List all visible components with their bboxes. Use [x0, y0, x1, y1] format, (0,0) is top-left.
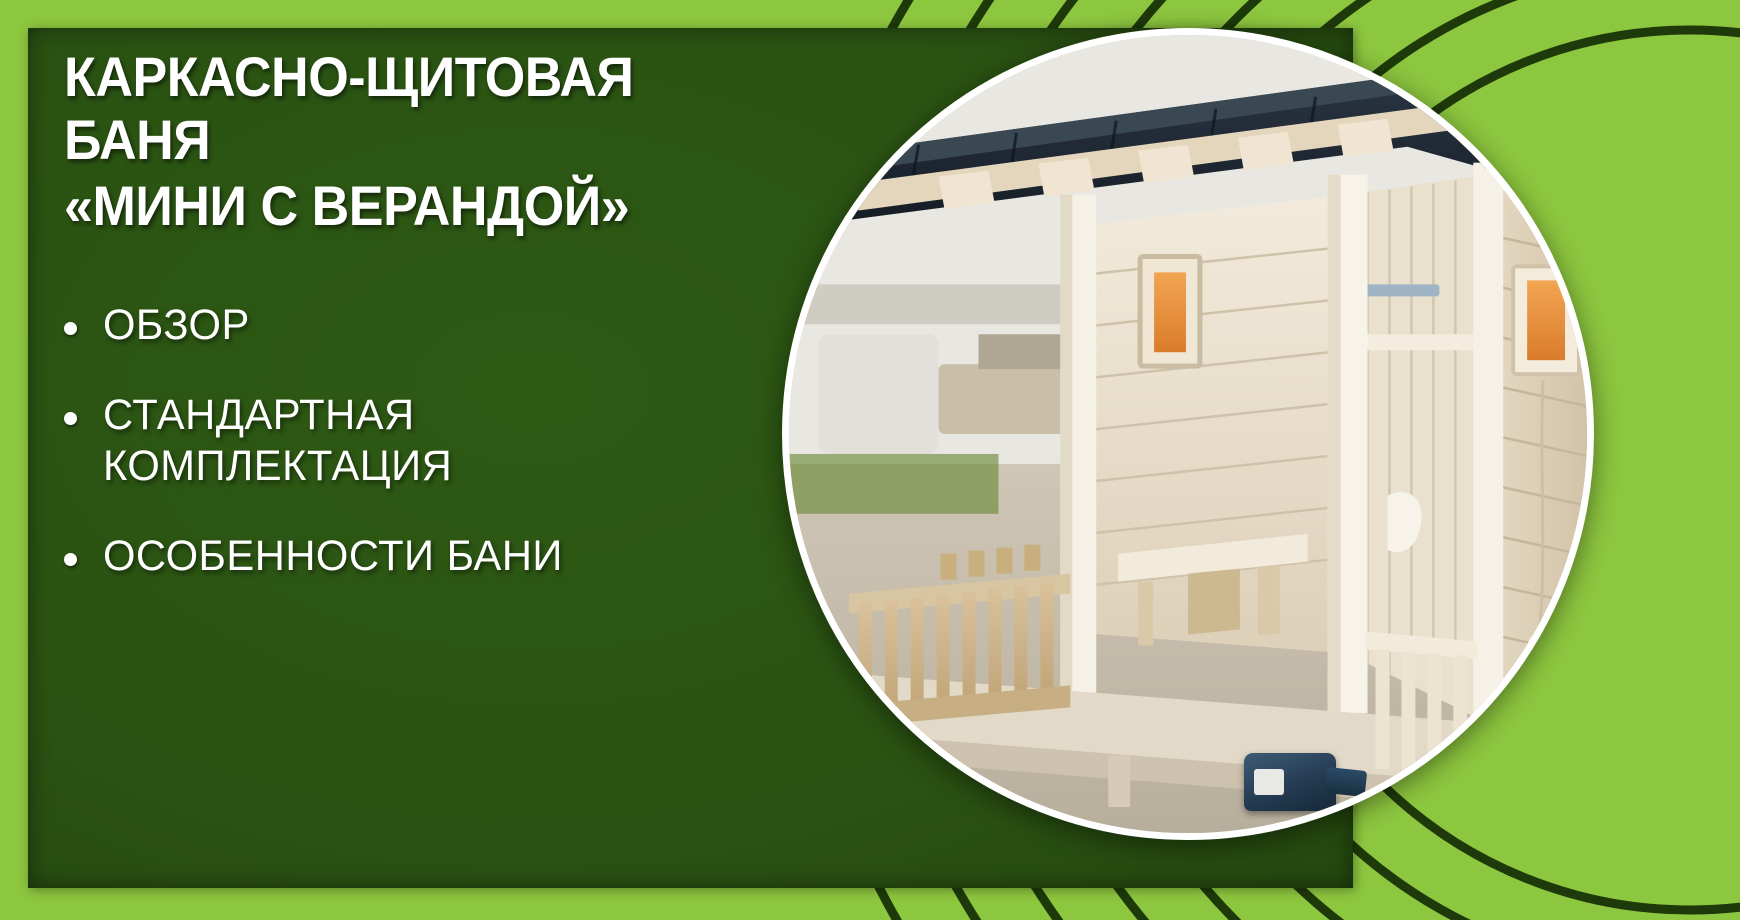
title-line-2: БАНЯ [64, 109, 771, 172]
sauna-scene [789, 35, 1587, 833]
bullet-line-1: ОБЗОР [103, 301, 250, 349]
bullet-line-1: СТАНДАРТНАЯ [103, 391, 415, 439]
promo-slide: КАРКАСНО-ЩИТОВАЯ БАНЯ «МИНИ С ВЕРАНДОЙ» … [0, 0, 1740, 920]
bullet-text: СТАНДАРТНАЯ КОМПЛЕКТАЦИЯ [103, 390, 452, 491]
text-column: КАРКАСНО-ЩИТОВАЯ БАНЯ «МИНИ С ВЕРАНДОЙ» … [64, 46, 824, 581]
title-line-3: «МИНИ С ВЕРАНДОЙ» [64, 175, 771, 238]
power-tool [1244, 753, 1336, 811]
topic-list: ОБЗОР СТАНДАРТНАЯ КОМПЛЕКТАЦИЯ ОСОБЕННОС… [64, 300, 824, 581]
page-title: КАРКАСНО-ЩИТОВАЯ БАНЯ «МИНИ С ВЕРАНДОЙ» [64, 46, 771, 238]
bullet-text: ОСОБЕННОСТИ БАНИ [103, 531, 563, 581]
bullet-dot-icon [64, 412, 77, 425]
bullet-text: ОБЗОР [103, 300, 250, 350]
list-item: ОБЗОР [64, 300, 824, 350]
bullet-dot-icon [64, 322, 77, 335]
sauna-photo [782, 28, 1594, 840]
bullet-line-1: ОСОБЕННОСТИ БАНИ [103, 532, 563, 580]
title-line-1: КАРКАСНО-ЩИТОВАЯ [64, 46, 771, 109]
list-item: СТАНДАРТНАЯ КОМПЛЕКТАЦИЯ [64, 390, 824, 491]
bullet-line-2: КОМПЛЕКТАЦИЯ [103, 441, 452, 491]
bullet-dot-icon [64, 553, 77, 566]
list-item: ОСОБЕННОСТИ БАНИ [64, 531, 824, 581]
